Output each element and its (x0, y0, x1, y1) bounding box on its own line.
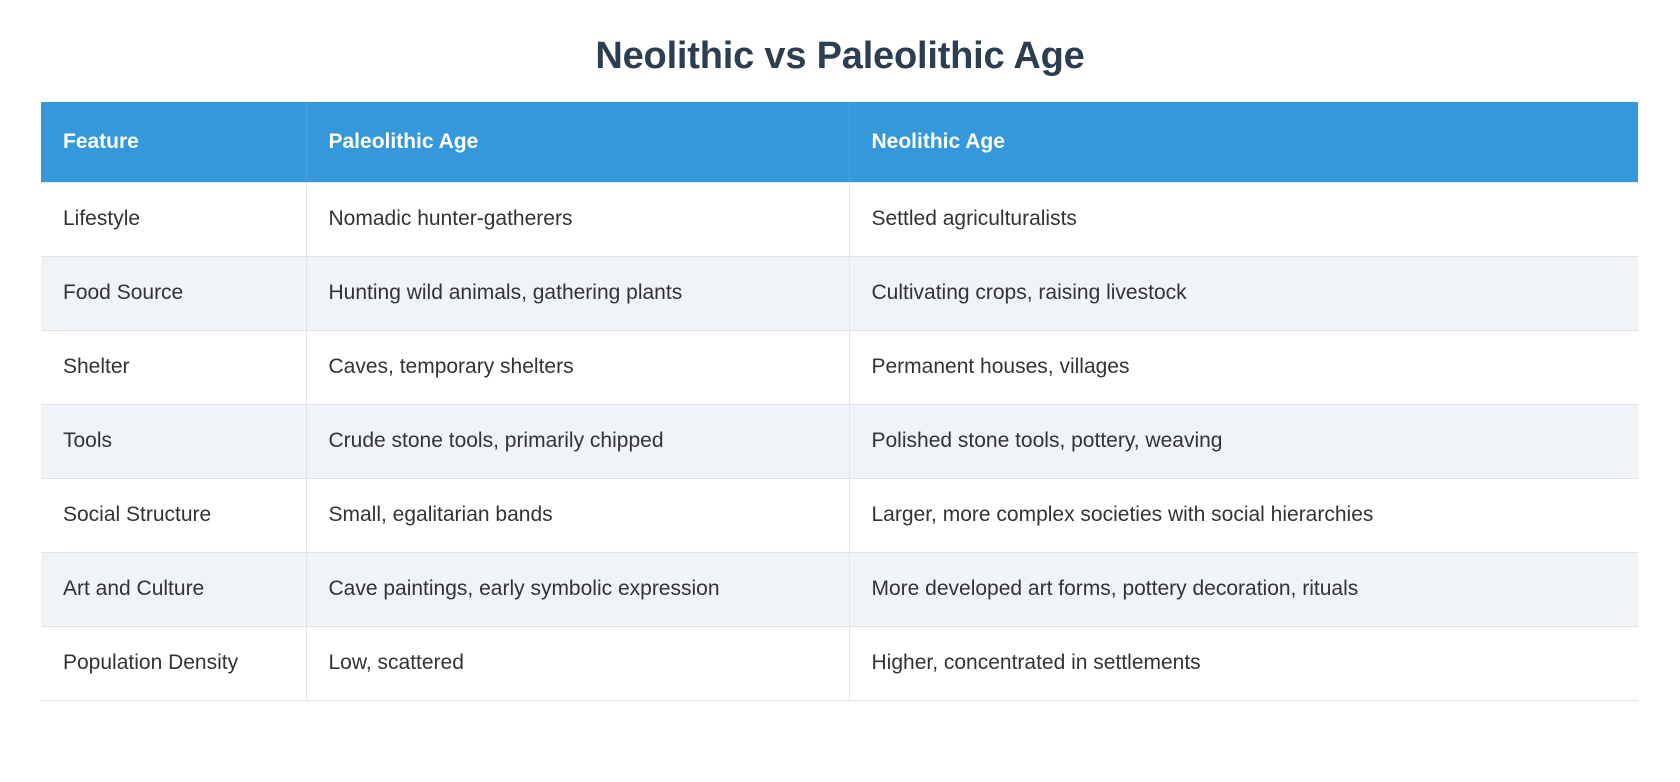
table-row: Social Structure Small, egalitarian band… (41, 478, 1638, 552)
cell-paleolithic: Nomadic hunter-gatherers (306, 182, 849, 256)
table-row: Lifestyle Nomadic hunter-gatherers Settl… (41, 182, 1638, 256)
column-header-paleolithic-age[interactable]: Paleolithic Age (306, 102, 849, 182)
table-row: Food Source Hunting wild animals, gather… (41, 256, 1638, 330)
table-row: Art and Culture Cave paintings, early sy… (41, 552, 1638, 626)
page-title: Neolithic vs Paleolithic Age (0, 0, 1680, 80)
cell-feature: Art and Culture (41, 552, 306, 626)
cell-paleolithic: Hunting wild animals, gathering plants (306, 256, 849, 330)
table-row: Shelter Caves, temporary shelters Perman… (41, 330, 1638, 404)
cell-paleolithic: Cave paintings, early symbolic expressio… (306, 552, 849, 626)
cell-feature: Population Density (41, 626, 306, 700)
cell-feature: Lifestyle (41, 182, 306, 256)
cell-paleolithic: Crude stone tools, primarily chipped (306, 404, 849, 478)
comparison-table-wrapper: Feature Paleolithic Age Neolithic Age Li… (41, 102, 1638, 701)
cell-neolithic: More developed art forms, pottery decora… (849, 552, 1638, 626)
table-row: Population Density Low, scattered Higher… (41, 626, 1638, 700)
cell-paleolithic: Caves, temporary shelters (306, 330, 849, 404)
table-body: Lifestyle Nomadic hunter-gatherers Settl… (41, 182, 1638, 700)
comparison-table: Feature Paleolithic Age Neolithic Age Li… (41, 102, 1638, 701)
table-row: Tools Crude stone tools, primarily chipp… (41, 404, 1638, 478)
page-container: Neolithic vs Paleolithic Age Feature Pal… (0, 0, 1680, 782)
cell-feature: Social Structure (41, 478, 306, 552)
column-header-neolithic-age[interactable]: Neolithic Age (849, 102, 1638, 182)
header-row: Feature Paleolithic Age Neolithic Age (41, 102, 1638, 182)
cell-feature: Tools (41, 404, 306, 478)
cell-neolithic: Polished stone tools, pottery, weaving (849, 404, 1638, 478)
cell-neolithic: Larger, more complex societies with soci… (849, 478, 1638, 552)
column-header-feature[interactable]: Feature (41, 102, 306, 182)
cell-neolithic: Permanent houses, villages (849, 330, 1638, 404)
table-header: Feature Paleolithic Age Neolithic Age (41, 102, 1638, 182)
cell-neolithic: Cultivating crops, raising livestock (849, 256, 1638, 330)
cell-neolithic: Higher, concentrated in settlements (849, 626, 1638, 700)
cell-paleolithic: Low, scattered (306, 626, 849, 700)
cell-feature: Food Source (41, 256, 306, 330)
cell-feature: Shelter (41, 330, 306, 404)
cell-neolithic: Settled agriculturalists (849, 182, 1638, 256)
cell-paleolithic: Small, egalitarian bands (306, 478, 849, 552)
